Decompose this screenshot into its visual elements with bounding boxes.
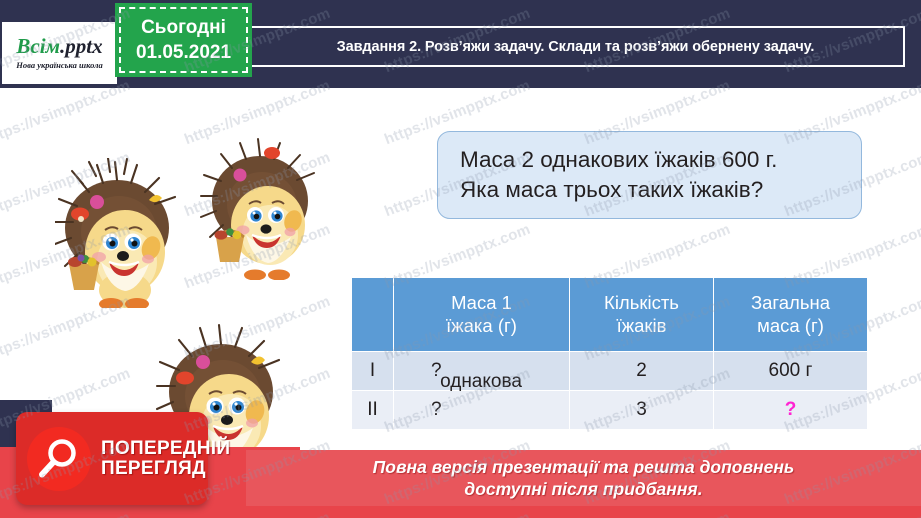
- hedgehog-with-basket-top: [200, 135, 330, 280]
- page-title: Завдання 2. Розв’яжи задачу. Склади та р…: [337, 39, 815, 55]
- logo-wordmark: Всім.pptx: [16, 36, 102, 57]
- preview-badge-text: ПОПЕРЕДНІЙ ПЕРЕГЛЯД: [101, 439, 230, 478]
- header-count-line-2: їжаків: [574, 315, 709, 338]
- bottom-banner: Повна версія презентації та решта доповн…: [246, 450, 921, 506]
- row-1-label: I: [352, 352, 394, 391]
- row-1-total: 600 г: [714, 352, 868, 391]
- row-2-mass: ?: [394, 391, 570, 430]
- header-cell-mass-per-hedgehog: Маса 1 їжака (г): [394, 278, 570, 352]
- logo-tagline: Нова українська школа: [16, 60, 102, 70]
- header-cell-blank: [352, 278, 394, 352]
- bottom-banner-line-2: доступні після придбання.: [464, 478, 702, 500]
- hedgehog-with-basket-left: [55, 158, 195, 308]
- row-1-mass: ?: [394, 352, 570, 391]
- header-total-line-2: маса (г): [718, 315, 863, 338]
- header-mass-line-1: Маса 1: [398, 292, 565, 315]
- row-2-total-unknown: ?: [785, 399, 797, 420]
- table-row: II ? 3 ?: [352, 391, 868, 430]
- header-total-line-1: Загальна: [718, 292, 863, 315]
- problem-table: Маса 1 їжака (г) Кількість їжаків Загаль…: [351, 277, 868, 430]
- header-cell-count: Кількість їжаків: [570, 278, 714, 352]
- problem-statement-box: Маса 2 однакових їжаків 600 г. Яка маса …: [437, 131, 862, 219]
- row-2-mass-value: ?: [394, 399, 569, 421]
- logo: Всім.pptx Нова українська школа: [2, 22, 117, 84]
- header-title-frame: Завдання 2. Розв’яжи задачу. Склади та р…: [246, 26, 905, 67]
- row-2-label: II: [352, 391, 394, 430]
- row-2-count: 3: [570, 391, 714, 430]
- row-1-mass-value: ?: [394, 360, 569, 382]
- preview-badge-line-1: ПОПЕРЕДНІЙ: [101, 439, 230, 458]
- header-count-line-1: Кількість: [574, 292, 709, 315]
- date-badge-value: 01.05.2021: [136, 42, 231, 64]
- logo-brand-primary: Всім: [16, 34, 60, 58]
- bottom-banner-line-1: Повна версія презентації та решта доповн…: [373, 456, 795, 478]
- row-2-total: ?: [714, 391, 868, 430]
- today-date-badge: Сьогодні 01.05.2021: [115, 3, 252, 77]
- magnifier-icon: [27, 427, 91, 491]
- problem-line-2: Яка маса трьох таких їжаків?: [460, 175, 763, 205]
- row-1-count: 2: [570, 352, 714, 391]
- header-cell-total-mass: Загальна маса (г): [714, 278, 868, 352]
- preview-badge[interactable]: ПОПЕРЕДНІЙ ПЕРЕГЛЯД: [16, 412, 208, 505]
- table-row: I ? 2 600 г: [352, 352, 868, 391]
- problem-line-1: Маса 2 однакових їжаків 600 г.: [460, 145, 777, 175]
- logo-brand-secondary: .pptx: [60, 34, 103, 58]
- date-badge-label: Сьогодні: [141, 17, 226, 39]
- header-mass-line-2: їжака (г): [398, 315, 565, 338]
- table-header-row: Маса 1 їжака (г) Кількість їжаків Загаль…: [352, 278, 868, 352]
- slide-canvas: Маса 2 однакових їжаків 600 г. Яка маса …: [0, 0, 921, 518]
- preview-badge-line-2: ПЕРЕГЛЯД: [101, 459, 230, 478]
